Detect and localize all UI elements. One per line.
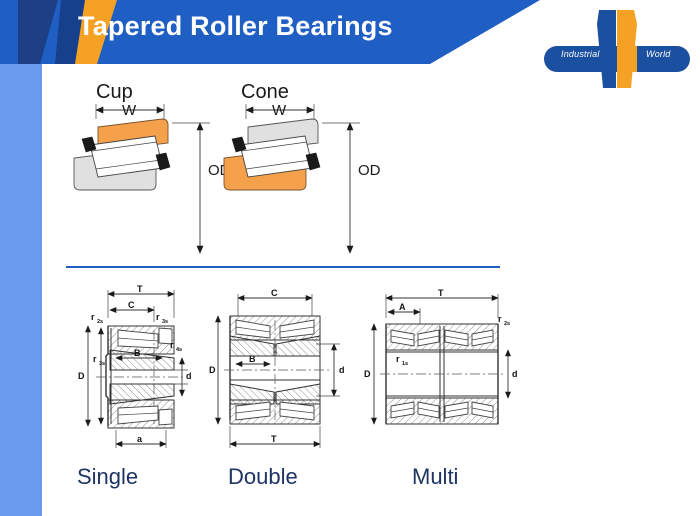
single-title: Single: [77, 464, 138, 490]
double-dim-C: C: [271, 288, 278, 298]
single-dim-r3s-v-sub: 3s: [99, 361, 105, 367]
double-title: Double: [228, 464, 298, 490]
single-dim-C: C: [128, 300, 135, 310]
logo-shape-right-overlay: [617, 46, 637, 72]
multi-diagram: T A r 2s r 1s D d: [360, 284, 515, 459]
cup-width-label: W: [122, 102, 137, 119]
single-dim-r2s: r: [91, 312, 95, 322]
single-dim-d: d: [186, 371, 192, 381]
double-dim-T: T: [271, 434, 277, 444]
double-dim-d: d: [339, 365, 345, 375]
single-dim-D: D: [78, 371, 85, 381]
multi-dim-d: d: [512, 369, 518, 379]
double-dim-B: B: [249, 354, 256, 364]
multi-dim-r1s-sub: 1s: [402, 361, 408, 367]
section-divider: [66, 266, 500, 268]
single-dim-r3s-sub: 3s: [162, 319, 168, 325]
single-dim-r4s-sub: 4s: [176, 347, 182, 353]
page-title: Tapered Roller Bearings: [78, 11, 393, 42]
logo-text-world: World: [646, 49, 671, 59]
multi-dim-r1s: r: [396, 354, 400, 364]
multi-dim-D: D: [364, 369, 371, 379]
double-diagram: C D d B T: [208, 284, 353, 459]
single-dim-r3s: r: [156, 312, 160, 322]
cone-diagram: W OD: [210, 95, 430, 255]
single-dim-r3s-v: r: [93, 354, 97, 364]
cone-width-label: W: [272, 102, 287, 119]
double-dim-D: D: [209, 365, 216, 375]
logo-shape-left-overlay: [597, 46, 617, 72]
multi-title: Multi: [412, 464, 458, 490]
single-dim-r4s: r: [170, 340, 174, 350]
single-dim-B: B: [134, 348, 141, 358]
single-diagram: T C r 2s r 3s r 3s D B r 4s d: [66, 284, 201, 459]
multi-dim-A: A: [399, 302, 406, 312]
logo-text-industrial: Industrial: [561, 49, 600, 59]
logo: Industrial World: [540, 2, 692, 88]
single-dim-T: T: [137, 284, 143, 294]
multi-dim-r2s-sub: 2s: [504, 321, 510, 327]
multi-dim-r2s: r: [498, 314, 502, 324]
single-dim-a: a: [137, 434, 143, 444]
cone-od-label: OD: [358, 162, 381, 179]
single-dim-r2s-sub: 2s: [97, 319, 103, 325]
left-rail-accent: [0, 64, 42, 516]
multi-dim-T: T: [438, 288, 444, 298]
